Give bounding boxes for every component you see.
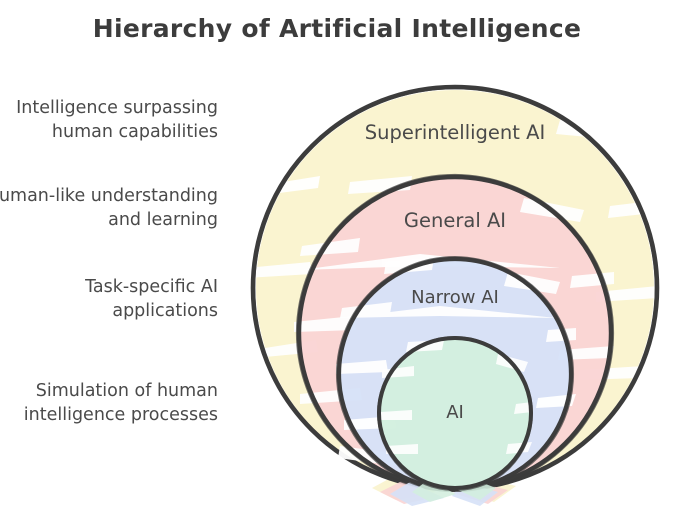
description-narrow: Task-specific AI applications	[0, 276, 218, 323]
description-general: Human-like understanding and learning	[0, 185, 218, 232]
diagram-canvas: Hierarchy of Artificial Intelligence	[0, 0, 674, 507]
description-superintelligent: Intelligence surpassing human capabiliti…	[0, 97, 218, 144]
hierarchy-circles-svg	[0, 0, 674, 507]
description-ai: Simulation of human intelligence process…	[0, 380, 218, 427]
